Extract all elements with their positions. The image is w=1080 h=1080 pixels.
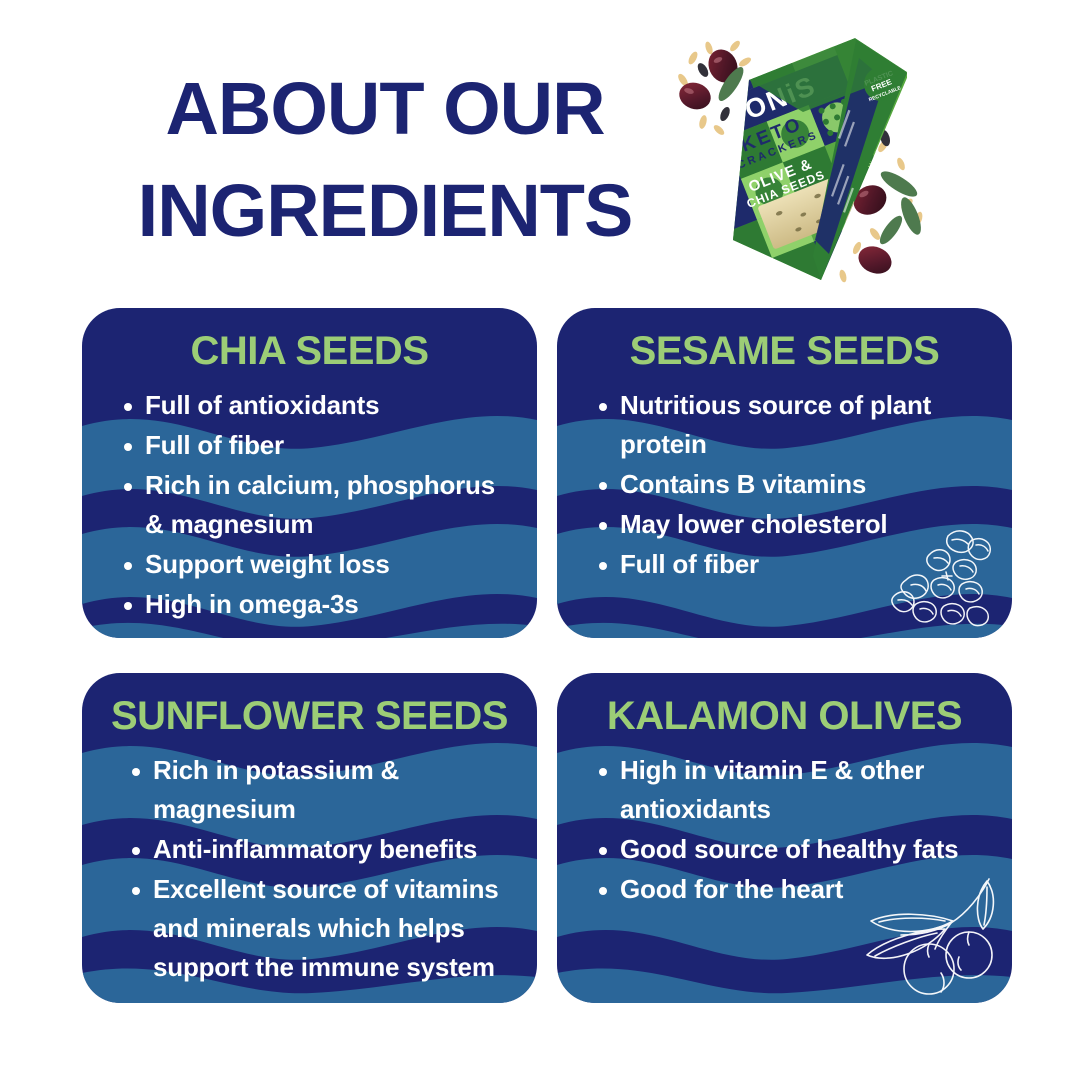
ingredient-card-sunflower-seeds: SUNFLOWER SEEDS Rich in potassium & magn… bbox=[82, 673, 537, 1003]
list-item: Good for the heart bbox=[593, 870, 990, 909]
card-title: KALAMON OLIVES bbox=[575, 695, 994, 737]
list-item: Nutritious source of plant protein bbox=[593, 386, 990, 464]
list-item: Full of antioxidants bbox=[118, 386, 515, 425]
list-item: High in vitamin E & other antioxidants bbox=[593, 751, 990, 829]
ingredient-cards-grid: CHIA SEEDS Full of antioxidants Full of … bbox=[82, 308, 998, 1003]
list-item: High in omega-3s bbox=[118, 585, 515, 624]
product-photo-adonis-pack: ADONiS KETO CRACKERS OLIVE & CHIA SEEDS … bbox=[645, 18, 955, 300]
page-title: ABOUT OUR INGREDIENTS bbox=[120, 58, 650, 262]
list-item: Rich in calcium, phosphorus & magnesium bbox=[118, 466, 515, 544]
card-title: CHIA SEEDS bbox=[100, 330, 519, 372]
benefits-list: Rich in potassium & magnesium Anti-infla… bbox=[100, 751, 519, 987]
card-title: SESAME SEEDS bbox=[575, 330, 994, 372]
list-item: Good source of healthy fats bbox=[593, 830, 990, 869]
benefits-list: Full of antioxidants Full of fiber Rich … bbox=[100, 386, 519, 624]
list-item: Anti-inflammatory benefits bbox=[126, 830, 515, 869]
list-item: Contains B vitamins bbox=[593, 465, 990, 504]
list-item: May lower cholesterol bbox=[593, 505, 990, 544]
list-item: Full of fiber bbox=[118, 426, 515, 465]
ingredient-card-kalamon-olives: KALAMON OLIVES High in vitamin E & other… bbox=[557, 673, 1012, 1003]
benefits-list: Nutritious source of plant protein Conta… bbox=[575, 386, 994, 584]
list-item: Rich in potassium & magnesium bbox=[126, 751, 515, 829]
ingredient-card-chia-seeds: CHIA SEEDS Full of antioxidants Full of … bbox=[82, 308, 537, 638]
benefits-list: High in vitamin E & other antioxidants G… bbox=[575, 751, 994, 909]
list-item: Full of fiber bbox=[593, 545, 990, 584]
ingredient-card-sesame-seeds: SESAME SEEDS Nutritious source of plant … bbox=[557, 308, 1012, 638]
list-item: Excellent source of vitamins and mineral… bbox=[126, 870, 515, 987]
card-title: SUNFLOWER SEEDS bbox=[100, 695, 519, 737]
list-item: Support weight loss bbox=[118, 545, 515, 584]
header: ABOUT OUR INGREDIENTS bbox=[0, 0, 1080, 300]
